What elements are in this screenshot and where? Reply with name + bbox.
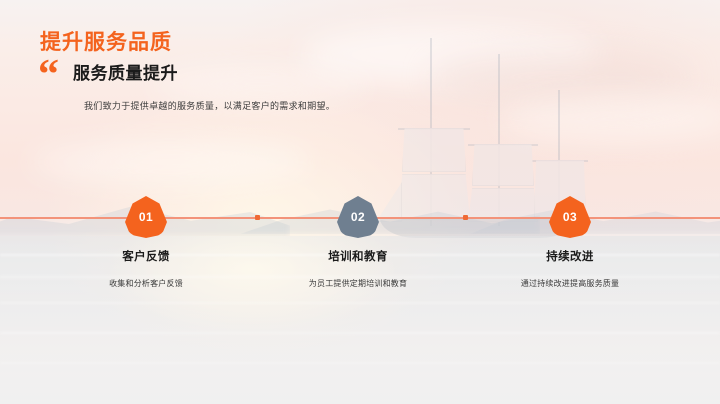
subtitle-row: “ 服务质量提升 bbox=[38, 57, 178, 85]
milestone-description: 收集和分析客户反馈 bbox=[46, 278, 246, 289]
marker-number: 01 bbox=[139, 210, 153, 224]
milestone-description: 通过持续改进提高服务质量 bbox=[470, 278, 670, 289]
milestone-title: 培训和教育 bbox=[258, 248, 458, 264]
section-subtitle: 服务质量提升 bbox=[73, 59, 178, 84]
quote-mark-icon: “ bbox=[38, 61, 59, 89]
milestone-item-03[interactable]: 持续改进 通过持续改进提高服务质量 bbox=[470, 248, 670, 289]
body-paragraph: 我们致力于提供卓越的服务质量，以满足客户的需求和期望。 bbox=[84, 99, 335, 112]
milestone-description: 为员工提供定期培训和教育 bbox=[258, 278, 458, 289]
presentation-slide: 提升服务品质 “ 服务质量提升 我们致力于提供卓越的服务质量，以满足客户的需求和… bbox=[0, 0, 720, 404]
milestone-title: 持续改进 bbox=[470, 248, 670, 264]
milestone-title: 客户反馈 bbox=[46, 248, 246, 264]
timeline-dot bbox=[255, 215, 260, 220]
cloud-shape bbox=[150, 66, 370, 102]
page-title: 提升服务品质 bbox=[40, 26, 172, 56]
marker-number: 02 bbox=[351, 210, 365, 224]
milestone-item-01[interactable]: 客户反馈 收集和分析客户反馈 bbox=[46, 248, 246, 289]
cloud-shape bbox=[30, 140, 310, 184]
timeline-dot bbox=[463, 215, 468, 220]
marker-number: 03 bbox=[563, 210, 577, 224]
milestone-item-02[interactable]: 培训和教育 为员工提供定期培训和教育 bbox=[258, 248, 458, 289]
